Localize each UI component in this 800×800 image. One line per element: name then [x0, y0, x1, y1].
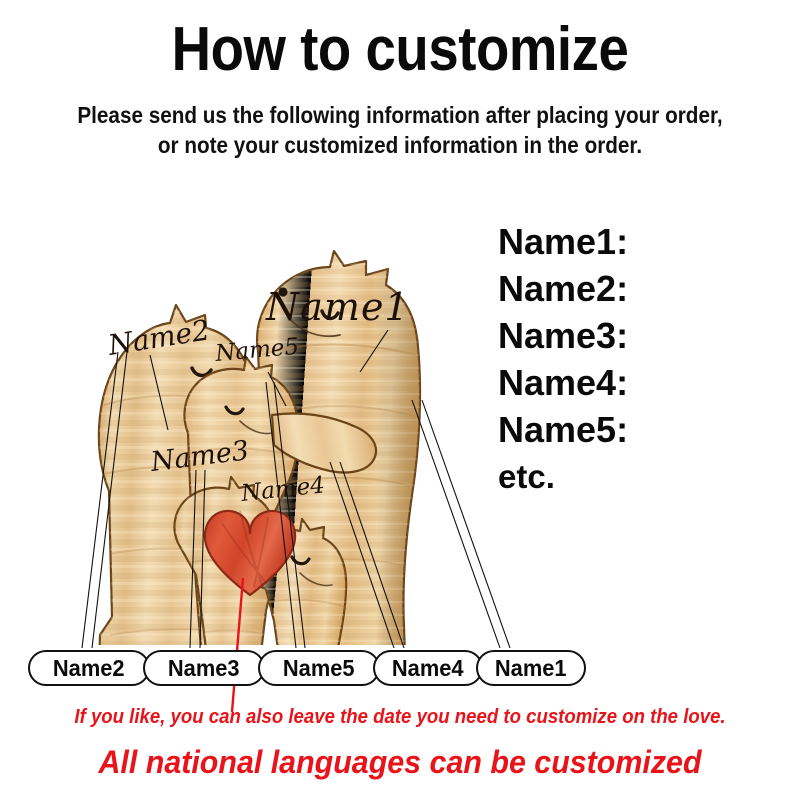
callout-box-name2[interactable]: Name2 [28, 650, 150, 686]
name-list-item-5: Name5: [498, 406, 788, 453]
bear-family-wood-carving: Name1 Name2 Name5 Name3 Name4 [0, 165, 480, 645]
date-customization-note: If you like, you can also leave the date… [28, 706, 772, 729]
callout-label-name2: Name2 [53, 655, 125, 682]
callout-box-name1[interactable]: Name1 [476, 650, 586, 686]
callout-label-name4: Name4 [392, 655, 464, 682]
subtitle-line-2: or note your customized information in t… [40, 130, 760, 160]
engraved-name1: Name1 [265, 285, 410, 329]
name-input-list: Name1: Name2: Name3: Name4: Name5: etc. [498, 218, 788, 500]
callout-box-name3[interactable]: Name3 [143, 650, 265, 686]
languages-note: All national languages can be customized [20, 744, 780, 781]
callout-box-name4[interactable]: Name4 [373, 650, 483, 686]
callout-label-name1: Name1 [495, 655, 567, 682]
callout-box-name5[interactable]: Name5 [258, 650, 380, 686]
name-list-item-4: Name4: [498, 359, 788, 406]
page-title: How to customize [48, 16, 752, 84]
callout-label-name3: Name3 [168, 655, 240, 682]
page-subtitle: Please send us the following information… [0, 100, 800, 160]
name-list-item-3: Name3: [498, 312, 788, 359]
name-list-item-etc: etc. [498, 453, 788, 500]
callout-label-name5: Name5 [283, 655, 355, 682]
name-list-item-2: Name2: [498, 265, 788, 312]
callout-label-row: Name2 Name3 Name5 Name4 Name1 [0, 650, 800, 692]
subtitle-line-1: Please send us the following information… [40, 100, 760, 130]
name-list-item-1: Name1: [498, 218, 788, 265]
